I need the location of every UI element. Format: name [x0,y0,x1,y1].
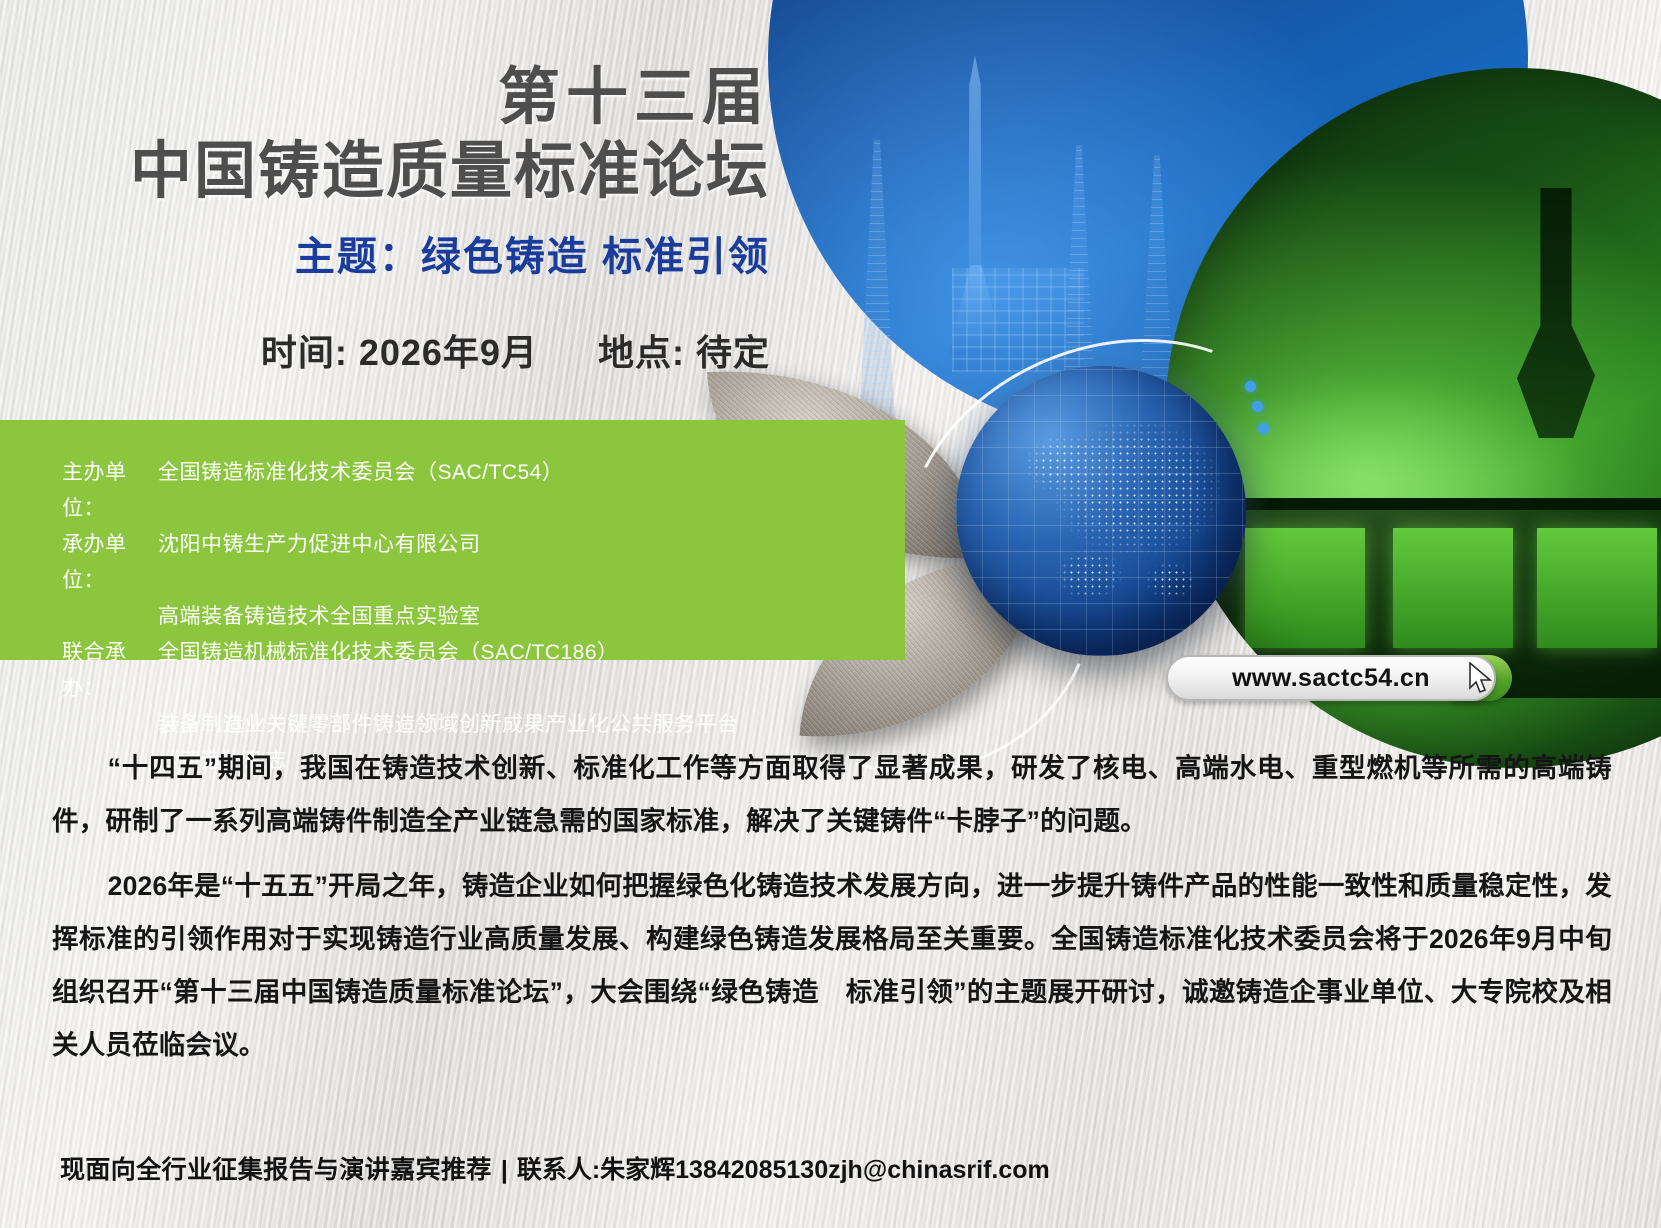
organizer-row: 联合承办： 全国铸造机械标准化技术委员会（SAC/TC186） [62,635,822,707]
globe-grid [956,366,1246,656]
page-title-line2: 中国铸造质量标准论坛 [0,135,770,206]
organizer-label [62,599,158,635]
rocket-fin-icon [948,265,1004,355]
organizer-row: 主办单位： 全国铸造标准化技术委员会（SAC/TC54） [62,455,822,527]
rocket-scene-disc [768,0,1528,440]
orbit-dot [1252,401,1263,412]
contact-phone[interactable]: 13842085130 [675,1156,828,1185]
contact-line: 现面向全行业征集报告与演讲嘉宾推荐 | 联系人: 朱家辉 13842085130… [60,1150,1560,1186]
furnace-window [1537,528,1657,648]
website-url-button[interactable]: www.sactc54.cn [1166,655,1496,701]
event-meta: 时间: 2026年9月 地点: 待定 [0,324,770,376]
contact-headline: 现面向全行业征集报告与演讲嘉宾推荐 [60,1150,492,1186]
organizer-value: 沈阳中铸生产力促进中心有限公司 [158,527,822,599]
organizer-row: 高端装备铸造技术全国重点实验室 [62,599,822,635]
contact-email[interactable]: zjh@chinasrif.com [828,1156,1050,1185]
launch-tower-icon [1062,145,1096,415]
launch-tower-icon [1140,155,1174,400]
steam-effect [1205,358,1625,618]
contact-person-name: 朱家辉 [600,1150,675,1186]
event-time: 时间: 2026年9月 [261,332,538,373]
forum-theme: 主题：绿色铸造 标准引领 [0,224,770,282]
organizer-row: 装备制造业关键零部件铸造领域创新成果产业化公共服务平台 [62,707,822,743]
page-title-line1: 第十三届 [0,64,770,129]
rocket-icon [962,55,988,355]
body-text: “十四五”期间，我国在铸造技术创新、标准化工作等方面取得了显著成果，研发了核电、… [52,742,1612,1072]
contact-separator: | [501,1156,508,1185]
organizer-value: 全国铸造机械标准化技术委员会（SAC/TC186） [158,635,822,707]
organizer-row: 承办单位： 沈阳中铸生产力促进中心有限公司 [62,527,822,599]
globe-glow [930,340,1272,682]
organizer-value: 装备制造业关键零部件铸造领域创新成果产业化公共服务平台 [158,707,822,743]
globe-continents [956,366,1246,656]
furnace-window [1245,528,1365,648]
website-url-text: www.sactc54.cn [1232,664,1430,693]
title-block: 第十三届 中国铸造质量标准论坛 主题：绿色铸造 标准引领 时间: 2026年9月… [0,64,770,376]
crane-hook-icon [1517,188,1595,438]
contact-person-label: 联系人: [517,1150,600,1186]
organizer-value: 高端装备铸造技术全国重点实验室 [158,599,822,635]
globe-icon [956,366,1246,656]
launch-pad-icon [952,268,1084,372]
paragraph-2: 2026年是“十五五”开局之年，铸造企业如何把握绿色化铸造技术发展方向，进一步提… [52,860,1612,1072]
blue-quarter-disc [768,0,1528,440]
poster-root: 第十三届 中国铸造质量标准论坛 主题：绿色铸造 标准引领 时间: 2026年9月… [0,0,1661,1228]
organizer-label: 承办单位： [62,527,158,599]
organizer-list: 主办单位： 全国铸造标准化技术委员会（SAC/TC54） 承办单位： 沈阳中铸生… [62,455,822,779]
orbit-dot [1258,423,1269,434]
organizer-label [62,707,158,743]
organizer-label: 联合承办： [62,635,158,707]
organizer-label: 主办单位： [62,455,158,527]
paragraph-1: “十四五”期间，我国在铸造技术创新、标准化工作等方面取得了显著成果，研发了核电、… [52,742,1612,848]
event-place: 地点: 待定 [598,332,770,373]
organizer-value: 全国铸造标准化技术委员会（SAC/TC54） [158,455,822,527]
orbit-dot [1245,381,1256,392]
launch-tower-icon [858,140,896,440]
furnace-window [1393,528,1513,648]
